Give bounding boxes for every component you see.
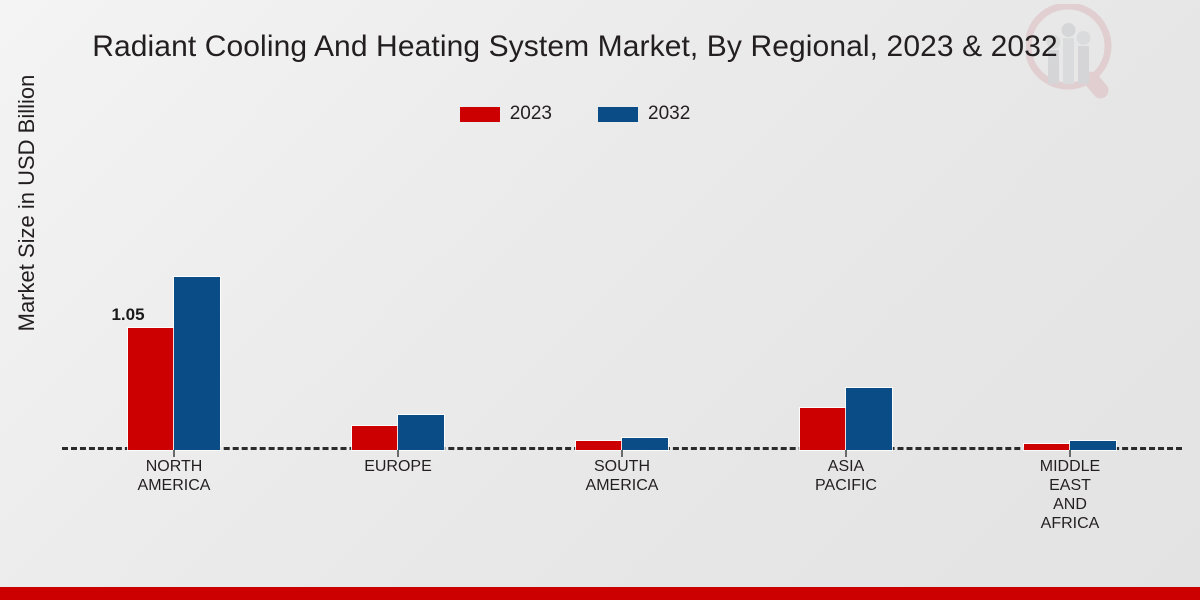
x-axis-tick	[845, 450, 847, 457]
y-axis-title: Market Size in USD Billion	[14, 28, 40, 378]
bar-value-label: 1.05	[82, 305, 174, 325]
bar-pair	[958, 150, 1182, 450]
chart-legend: 2023 2032	[0, 103, 1150, 125]
bar-2023-asia-pacific[interactable]	[800, 408, 846, 450]
bar-group: EUROPE	[286, 150, 510, 450]
x-axis-label-middle-east-and-africa: MIDDLEEASTANDAFRICA	[958, 457, 1182, 533]
plot-area: 1.05NORTHAMERICAEUROPESOUTHAMERICAASIAPA…	[62, 150, 1182, 450]
legend-label-2023: 2023	[510, 103, 552, 125]
bar-2032-europe[interactable]	[398, 415, 444, 450]
legend-swatch-2023	[460, 107, 500, 122]
bar-2032-south-america[interactable]	[622, 438, 668, 450]
bar-2032-middle-east-and-africa[interactable]	[1070, 441, 1116, 450]
bar-group: ASIAPACIFIC	[734, 150, 958, 450]
x-axis-tick	[397, 450, 399, 457]
bar-2032-north-america[interactable]	[174, 277, 220, 450]
x-axis-tick	[621, 450, 623, 457]
bar-pair	[62, 150, 286, 450]
bar-group: SOUTHAMERICA	[510, 150, 734, 450]
x-axis-label-asia-pacific: ASIAPACIFIC	[734, 457, 958, 495]
bar-2023-south-america[interactable]	[576, 441, 622, 450]
legend-item-2023[interactable]: 2023	[460, 103, 552, 125]
x-axis-label-north-america: NORTHAMERICA	[62, 457, 286, 495]
legend-item-2032[interactable]: 2032	[598, 103, 690, 125]
bar-2023-middle-east-and-africa[interactable]	[1024, 444, 1070, 450]
chart-title: Radiant Cooling And Heating System Marke…	[0, 30, 1150, 64]
chart-page: Radiant Cooling And Heating System Marke…	[0, 0, 1200, 600]
x-axis-tick	[173, 450, 175, 457]
bar-pair	[734, 150, 958, 450]
bar-group: 1.05NORTHAMERICA	[62, 150, 286, 450]
x-axis-tick	[1069, 450, 1071, 457]
x-axis-label-south-america: SOUTHAMERICA	[510, 457, 734, 495]
bar-pair	[286, 150, 510, 450]
bar-2023-europe[interactable]	[352, 426, 398, 450]
bar-2023-north-america[interactable]	[128, 328, 174, 450]
legend-swatch-2032	[598, 107, 638, 122]
red-footer-band	[0, 587, 1200, 600]
bar-pair	[510, 150, 734, 450]
legend-label-2032: 2032	[648, 103, 690, 125]
bar-group: MIDDLEEASTANDAFRICA	[958, 150, 1182, 450]
bar-2032-asia-pacific[interactable]	[846, 388, 892, 450]
x-axis-label-europe: EUROPE	[286, 457, 510, 476]
